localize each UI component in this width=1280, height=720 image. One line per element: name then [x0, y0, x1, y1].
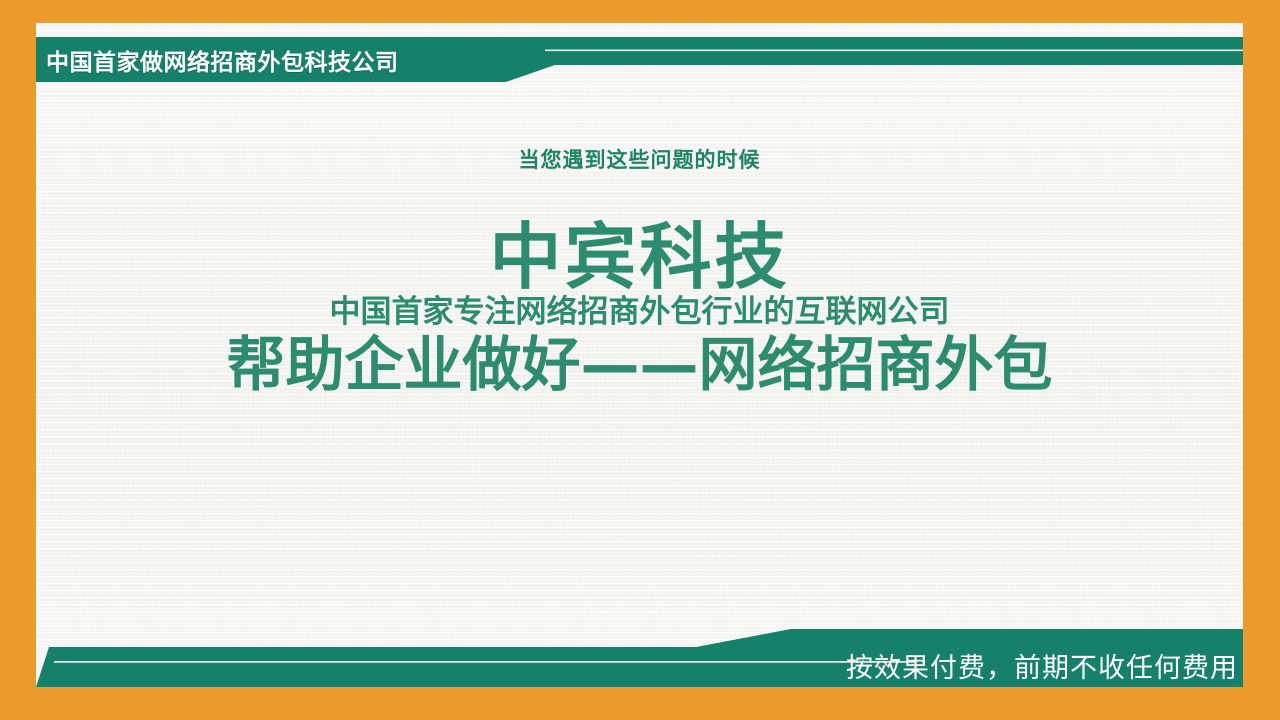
eyebrow-text: 当您遇到这些问题的时候 [36, 150, 1243, 171]
bottom-banner-label: 按效果付费，前期不收任何费用 [846, 646, 1238, 684]
brand-title: 中宾科技 [36, 223, 1243, 291]
tagline-text: 帮助企业做好——网络招商外包 [36, 334, 1243, 396]
slide-canvas: 中国首家做网络招商外包科技公司 当您遇到这些问题的时候 中宾科技 中国首家专注网… [0, 0, 1280, 720]
top-banner-label: 中国首家做网络招商外包科技公司 [46, 43, 526, 77]
slide-body: 当您遇到这些问题的时候 中宾科技 中国首家专注网络招商外包行业的互联网公司 帮助… [36, 150, 1243, 396]
brand-subtitle: 中国首家专注网络招商外包行业的互联网公司 [36, 297, 1243, 328]
